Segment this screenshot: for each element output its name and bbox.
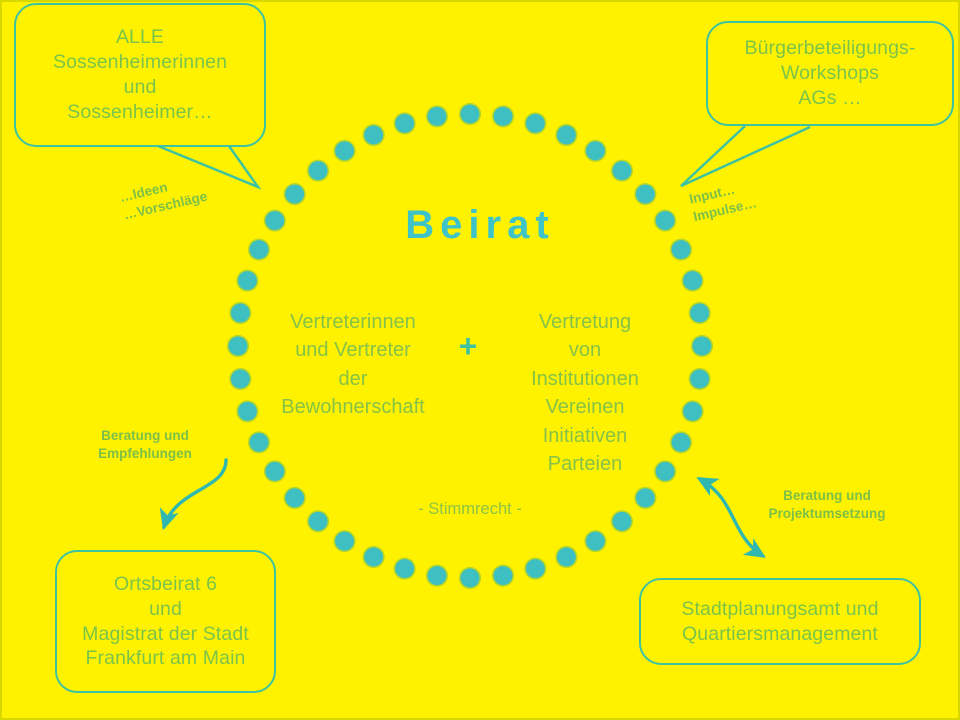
- edge-label-beratung-projektumsetzung: Beratung undProjektumsetzung: [742, 487, 912, 523]
- node-workshops[interactable]: Bürgerbeteiligungs-WorkshopsAGs …: [706, 21, 954, 126]
- diagram-canvas: Beirat Vertreterinnenund VertreterderBew…: [0, 0, 960, 720]
- node-stadtplanungsamt-label: Stadtplanungsamt undQuartiersmanagement: [641, 597, 919, 647]
- node-ortsbeirat-label: Ortsbeirat 6undMagistrat der StadtFrankf…: [57, 572, 274, 672]
- node-ortsbeirat[interactable]: Ortsbeirat 6undMagistrat der StadtFrankf…: [55, 550, 276, 693]
- edge-label-beratung-empfehlungen: Beratung undEmpfehlungen: [70, 427, 220, 463]
- node-citizens[interactable]: ALLESossenheimerinnenundSossenheimer…: [14, 3, 266, 147]
- node-stadtplanungsamt[interactable]: Stadtplanungsamt undQuartiersmanagement: [639, 578, 921, 665]
- plus-icon: +: [443, 330, 493, 362]
- node-citizens-label: ALLESossenheimerinnenundSossenheimer…: [16, 25, 264, 125]
- hub-left-column: Vertreterinnenund VertreterderBewohnersc…: [258, 308, 448, 422]
- arrow-beratung-empfehlungen: [164, 460, 226, 527]
- node-workshops-label: Bürgerbeteiligungs-WorkshopsAGs …: [708, 36, 952, 111]
- hub-right-column: VertretungvonInstitutionenVereinenInitia…: [490, 308, 680, 478]
- hub-footnote: - Stimmrecht -: [330, 500, 610, 519]
